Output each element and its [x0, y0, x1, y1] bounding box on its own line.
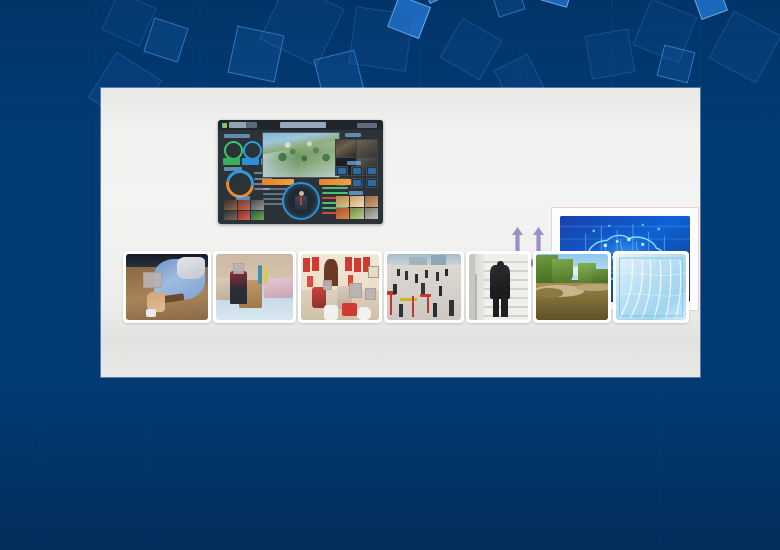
strip-photo-6[interactable]	[533, 251, 611, 323]
strip-photo-1[interactable]	[123, 251, 211, 323]
photo-stairwell-walker	[469, 254, 528, 320]
photo-bedroom-resident	[216, 254, 293, 320]
dashboard-thumbnail[interactable]	[224, 200, 237, 210]
dashboard-thumbnail[interactable]	[350, 208, 363, 219]
dashboard-left-table-header	[262, 179, 294, 185]
dashboard-thumbnail[interactable]	[365, 196, 378, 207]
dashboard-thumbnail[interactable]	[336, 196, 349, 207]
dashboard-thumbnail[interactable]	[224, 211, 237, 221]
dashboard-people-thumbnail-grid[interactable]	[224, 200, 264, 220]
face-blur-mosaic	[323, 280, 332, 290]
arrow-up-1	[512, 227, 523, 251]
dashboard-thumbnail[interactable]	[238, 200, 251, 210]
dashboard-camera-tile[interactable]	[335, 139, 357, 158]
dashboard-device-icon[interactable]	[366, 178, 378, 188]
photo-festive-gathering	[301, 254, 379, 320]
arrow-up-2	[533, 227, 544, 251]
strip-photo-5[interactable]	[466, 251, 531, 323]
strip-photo-4[interactable]	[384, 251, 464, 323]
dashboard-logo-icon	[222, 123, 227, 128]
dashboard-device-icon[interactable]	[351, 178, 363, 188]
dashboard-thumbnail[interactable]	[336, 208, 349, 219]
dashboard-brand-label	[229, 122, 257, 128]
dashboard-gauge-label-online	[223, 158, 240, 165]
person-silhouette-icon	[295, 191, 307, 211]
dashboard-camera-section-label	[345, 133, 361, 137]
dashboard-alarm-thumbnail-grid[interactable]	[336, 196, 378, 219]
dashboard-thumbnail[interactable]	[365, 208, 378, 219]
content-panel	[101, 88, 700, 377]
blue-texture-graphic	[616, 254, 686, 320]
dashboard-screenshot[interactable]	[218, 120, 383, 224]
dashboard-thumbnail[interactable]	[350, 196, 363, 207]
slide-canvas	[0, 0, 780, 550]
photo-elderly-fall	[126, 254, 208, 320]
strip-photo-3[interactable]	[298, 251, 382, 323]
face-blur-mosaic	[365, 288, 376, 300]
face-blur-mosaic	[349, 283, 361, 298]
dashboard-table-row	[322, 187, 348, 189]
dashboard-device-icon[interactable]	[336, 166, 348, 176]
dashboard-gauge-label-calls	[242, 158, 259, 165]
source-imagery-strip	[123, 251, 683, 323]
dashboard-thumbnail[interactable]	[238, 211, 251, 221]
dashboard-devices-section-label	[347, 161, 361, 165]
dashboard-title-label	[280, 122, 326, 128]
face-blur-mosaic	[143, 272, 162, 288]
dashboard-device-icon[interactable]	[366, 166, 378, 176]
face-blur-mosaic	[233, 263, 245, 274]
strip-photo-7[interactable]	[613, 251, 689, 323]
photo-blue-abstract	[616, 254, 686, 320]
dashboard-thumbnail[interactable]	[251, 211, 264, 221]
dashboard-focus-person-avatar[interactable]	[282, 182, 320, 220]
dashboard-3d-map-view[interactable]	[262, 132, 340, 178]
dashboard-gauges-section-label	[224, 134, 250, 138]
dashboard-right-table-header	[319, 179, 351, 185]
photo-riverside-park	[536, 254, 608, 320]
dashboard-device-icon[interactable]	[351, 166, 363, 176]
strip-photo-2[interactable]	[213, 251, 296, 323]
dashboard-alarm-thumbs-label	[349, 191, 363, 195]
photo-plaza-crowd	[387, 254, 461, 320]
dashboard-camera-tile[interactable]	[356, 139, 378, 158]
dashboard-table-row	[322, 192, 348, 194]
dashboard-header-right-label	[357, 123, 377, 128]
dashboard-thumbnail[interactable]	[251, 200, 264, 210]
